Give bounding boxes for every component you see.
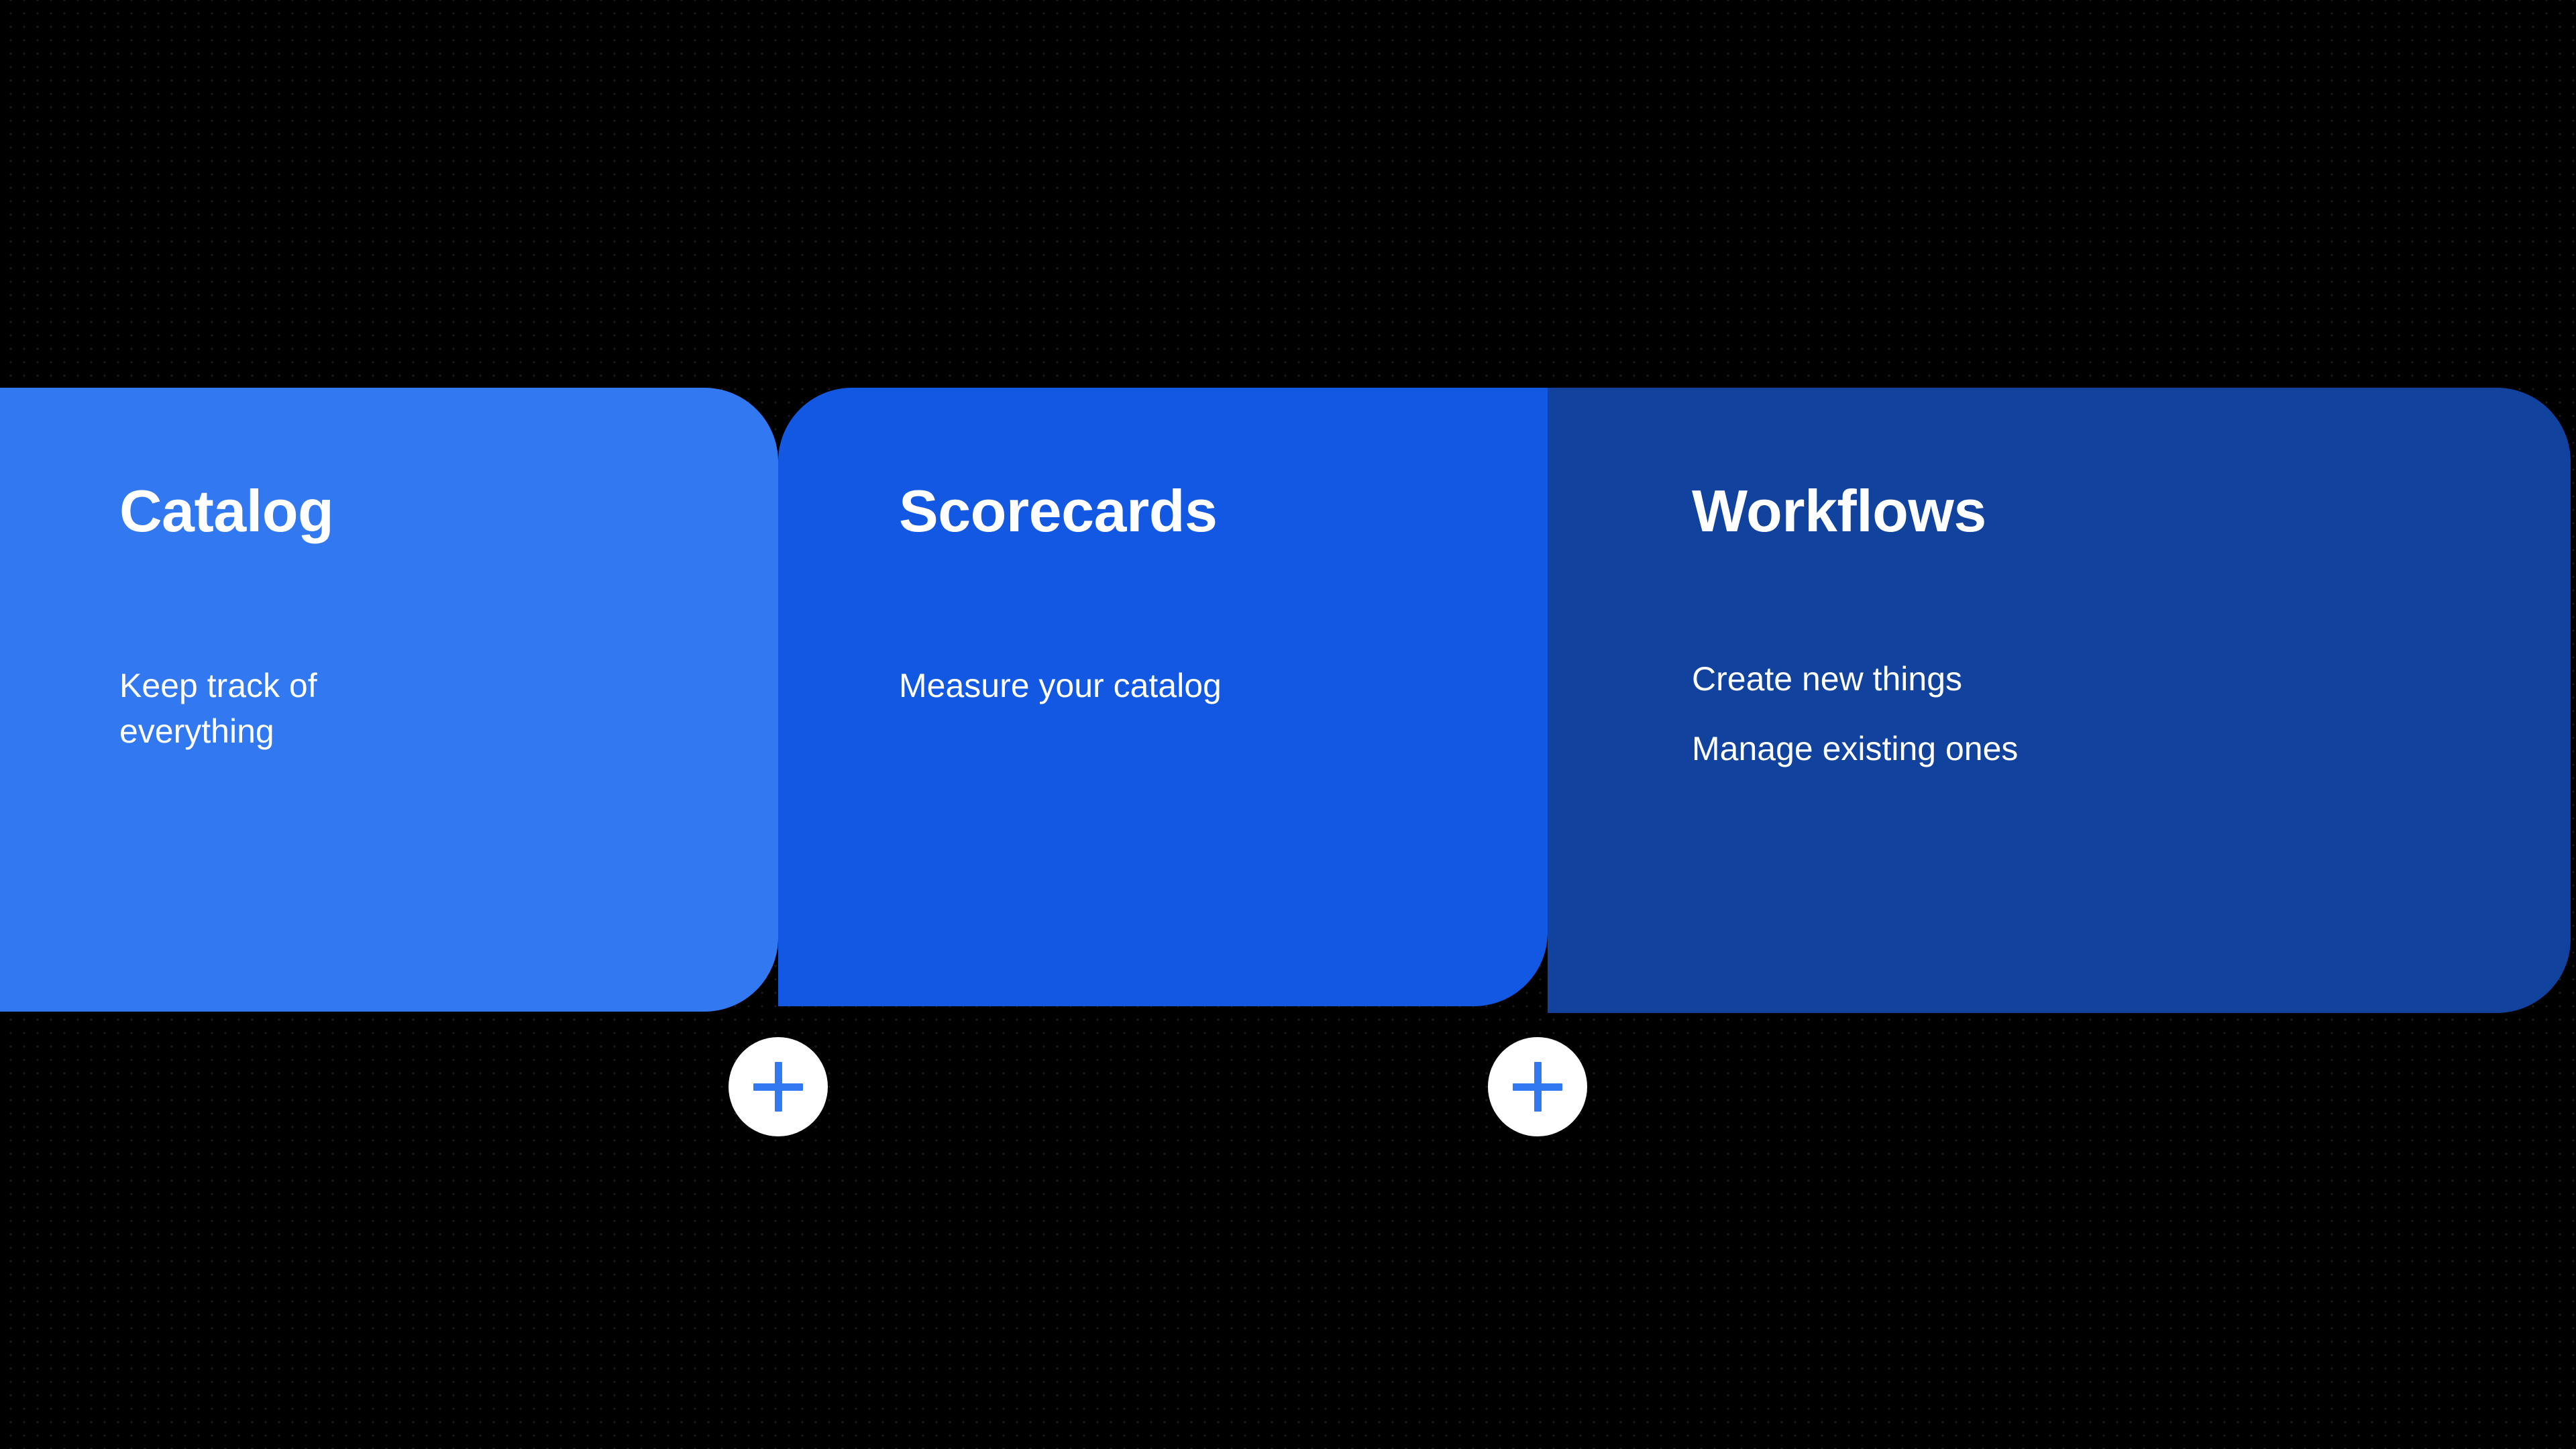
plus-icon-vertical-bar xyxy=(775,1062,782,1112)
plus-icon-connector-2 xyxy=(1488,1037,1587,1136)
plus-icon-connector-1 xyxy=(729,1037,828,1136)
stage-cards-row: Catalog Keep track of everything Scoreca… xyxy=(0,388,2576,1015)
diagram-canvas: Catalog Keep track of everything Scoreca… xyxy=(0,0,2576,1449)
stage-card-scorecards-description-line-1: Measure your catalog xyxy=(899,663,1449,708)
plus-icon xyxy=(1488,1037,1587,1136)
stage-card-scorecards[interactable]: Scorecards Measure your catalog xyxy=(778,388,1548,1006)
plus-icon xyxy=(729,1037,828,1136)
stage-card-catalog-description-line-2: everything xyxy=(119,708,468,754)
stage-card-workflows-title: Workflows xyxy=(1692,482,1986,541)
stage-card-workflows[interactable]: Workflows Create new things Manage exist… xyxy=(1548,388,2571,1013)
stage-card-scorecards-title: Scorecards xyxy=(899,482,1217,541)
stage-card-workflows-description-line-2: Manage existing ones xyxy=(1692,726,2430,771)
plus-icon-vertical-bar xyxy=(1534,1062,1542,1112)
stage-card-workflows-description: Create new things Manage existing ones xyxy=(1692,656,2430,771)
stage-card-catalog-description-line-1: Keep track of xyxy=(119,663,468,708)
stage-card-workflows-description-line-1: Create new things xyxy=(1692,656,2430,702)
stage-card-catalog-description: Keep track of everything xyxy=(119,663,468,754)
stage-card-catalog-title: Catalog xyxy=(119,482,333,541)
stage-card-catalog[interactable]: Catalog Keep track of everything xyxy=(0,388,778,1012)
stage-card-scorecards-description: Measure your catalog xyxy=(899,663,1449,708)
